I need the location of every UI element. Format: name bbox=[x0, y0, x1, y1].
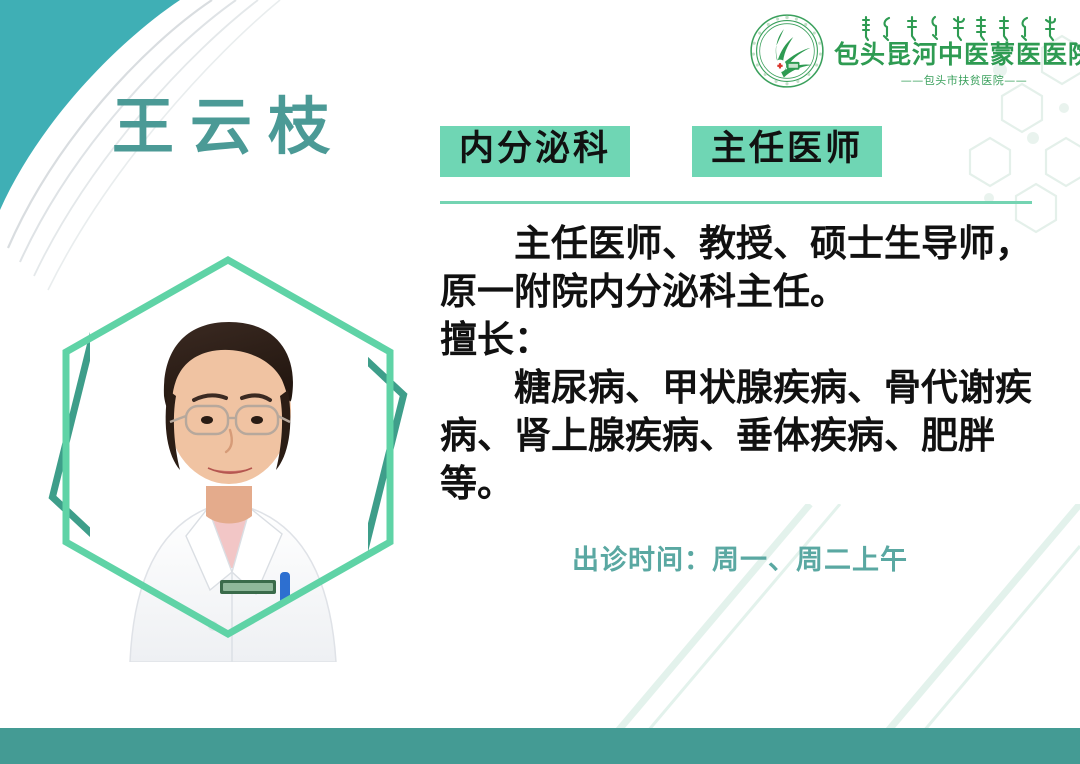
title-badge: 主任医师 bbox=[692, 126, 882, 177]
hospital-leaf-emblem-icon bbox=[748, 12, 826, 90]
mongolian-script-line bbox=[859, 14, 1069, 42]
hospital-subtitle: ——包头市扶贫医院—— bbox=[901, 72, 1028, 88]
hospital-name: 包头昆河中医蒙医医院 bbox=[834, 42, 1080, 68]
doctor-info-column: 内分泌科 主任医师 主任医师、教授、硕士生导师，原一附院内分泌科主任。 擅长： … bbox=[440, 126, 1040, 577]
bio-line-1: 主任医师、教授、硕士生导师，原一附院内分泌科主任。 bbox=[440, 220, 1040, 316]
bio-line-3: 糖尿病、甲状腺疾病、骨代谢疾病、肾上腺疾病、垂体疾病、肥胖等。 bbox=[440, 364, 1040, 508]
doctor-bio: 主任医师、教授、硕士生导师，原一附院内分泌科主任。 擅长： 糖尿病、甲状腺疾病、… bbox=[440, 220, 1040, 509]
consult-hours: 出诊时间：周一、周二上午 bbox=[440, 538, 1040, 577]
badge-row: 内分泌科 主任医师 bbox=[440, 126, 1040, 177]
hexagon-frame-mint-icon bbox=[18, 232, 438, 672]
doctor-photo-frame bbox=[18, 232, 438, 672]
hospital-logo-block: 包头昆河中医蒙医医院 ——包头市扶贫医院—— bbox=[748, 12, 1080, 90]
bio-line-2: 擅长： bbox=[440, 316, 1040, 364]
doctor-profile-poster: 包头昆河中医蒙医医院 ——包头市扶贫医院—— 王云枝 bbox=[0, 0, 1080, 764]
section-divider bbox=[440, 201, 1032, 204]
doctor-name: 王云枝 bbox=[112, 96, 346, 158]
bottom-teal-band bbox=[0, 728, 1080, 764]
department-badge: 内分泌科 bbox=[440, 126, 630, 177]
